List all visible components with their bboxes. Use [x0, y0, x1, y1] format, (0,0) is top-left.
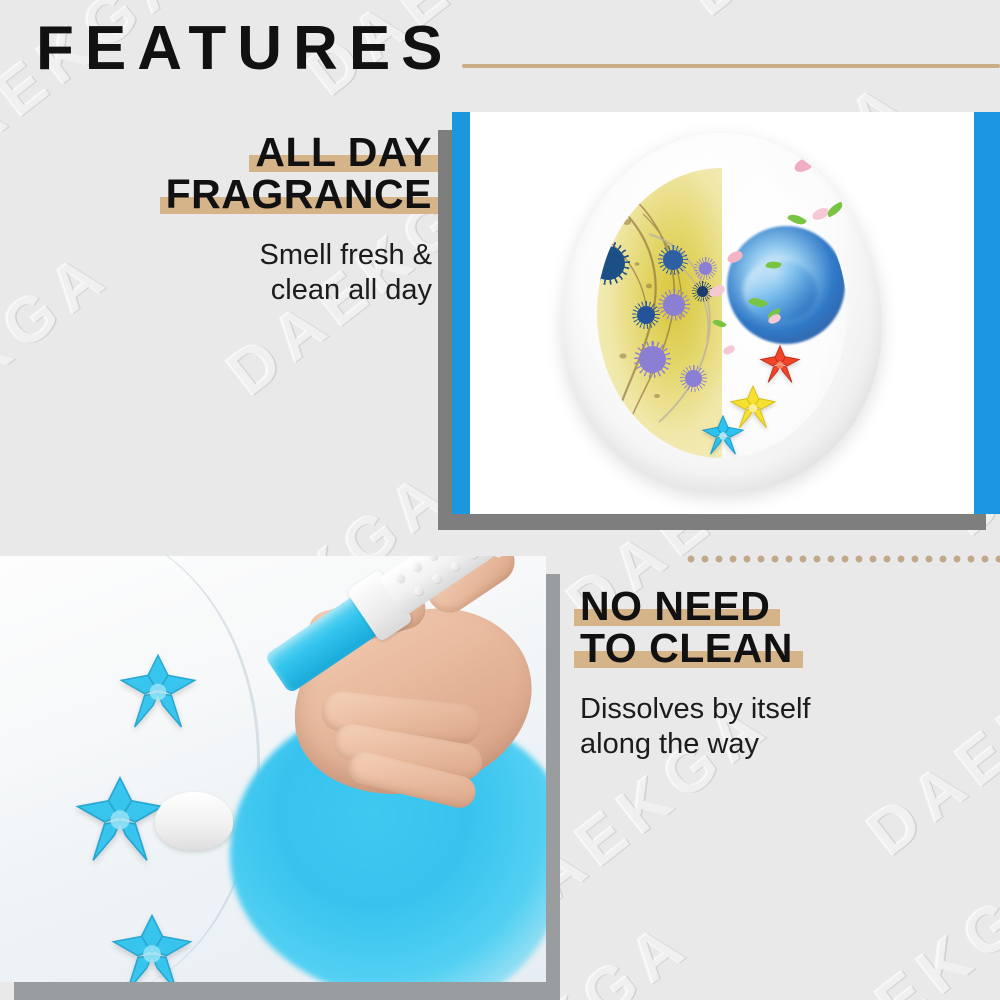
germ-icon	[605, 182, 631, 208]
gel-flower-stamp-icon	[110, 912, 194, 982]
feature-1-body: Smell fresh & clean all day	[0, 238, 432, 309]
feature-2-heading-line-2: TO CLEAN	[580, 628, 793, 670]
gel-flower-red-icon	[758, 343, 802, 387]
feature-2-heading-text-1: NO NEED	[580, 586, 770, 628]
blue-accent-strip-right	[974, 112, 1000, 514]
water-swirl-icon	[727, 226, 845, 344]
germ-icon	[597, 246, 625, 280]
feature-1-body-line-1: Smell fresh &	[0, 238, 432, 273]
photo-inner	[0, 556, 546, 982]
feature-1-heading-text-1: ALL DAY	[255, 132, 432, 174]
grip-bump	[449, 560, 461, 572]
germ-icon	[697, 286, 708, 297]
feature-1-heading-line-1: ALL DAY	[255, 132, 432, 174]
gel-dispenser-photo	[0, 556, 560, 1000]
toilet-surface	[0, 556, 546, 982]
grip-bump	[467, 556, 479, 560]
toilet-bowl-comparison-photo	[438, 112, 1000, 530]
feature-2-heading-text-2: TO CLEAN	[580, 628, 793, 670]
feature-1-heading-text-2: FRAGRANCE	[166, 174, 432, 216]
feature-block-all-day-fragrance: ALL DAY FRAGRANCE Smell fresh & clean al…	[0, 132, 432, 308]
germ-icon	[637, 306, 655, 324]
germ-icon	[639, 346, 666, 373]
feature-1-heading-line-2: FRAGRANCE	[166, 174, 432, 216]
germ-icon	[685, 370, 702, 387]
watermark-text: DAEKGA	[773, 844, 1000, 1000]
photo-inner	[452, 112, 1000, 514]
germ-icon	[663, 294, 685, 316]
header-divider-rule	[462, 64, 1000, 68]
grip-bump	[431, 572, 443, 584]
germ-icon	[663, 250, 683, 270]
page-title: FEATURES	[36, 18, 454, 80]
grip-bump	[411, 561, 423, 573]
grip-bump	[427, 556, 439, 562]
bowl-stage	[470, 112, 974, 514]
dotted-divider	[684, 554, 1000, 564]
toilet-bowl-shape	[562, 133, 882, 493]
gel-flower-blue-icon	[700, 413, 746, 459]
grip-bump	[412, 585, 424, 597]
feature-2-body: Dissolves by itself along the way	[580, 692, 980, 763]
feature-1-body-line-2: clean all day	[0, 273, 432, 308]
page-header: FEATURES	[0, 0, 1000, 110]
feature-2-heading-line-1: NO NEED	[580, 586, 770, 628]
feature-block-no-need-to-clean: NO NEED TO CLEAN Dissolves by itself alo…	[580, 586, 980, 762]
hand-holding-dispenser	[255, 556, 546, 838]
blue-accent-strip-left	[452, 112, 470, 514]
feature-2-body-line-1: Dissolves by itself	[580, 692, 980, 727]
germ-icon	[699, 262, 712, 275]
feature-2-body-line-2: along the way	[580, 727, 980, 762]
gel-flower-stamp-icon	[118, 652, 198, 732]
gel-flower-stamp-icon	[74, 774, 166, 866]
dispenser-nozzle-base	[155, 792, 233, 850]
grip-bump	[394, 572, 406, 584]
